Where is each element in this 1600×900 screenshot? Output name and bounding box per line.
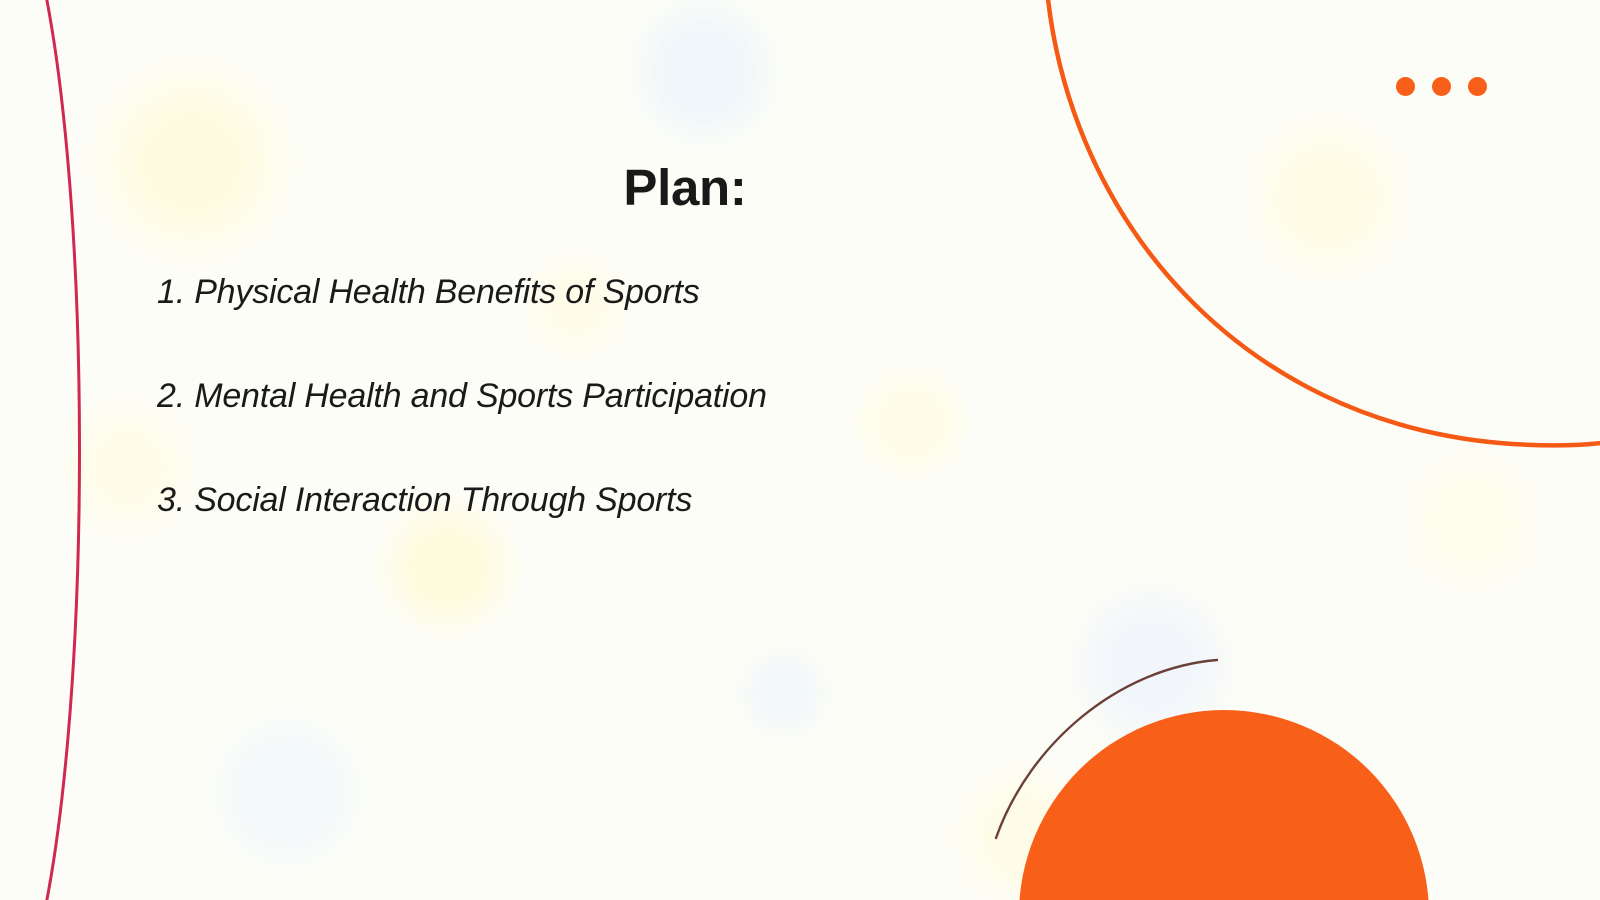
plan-list-item-2: 2. Mental Health and Sports Participatio… <box>157 376 977 417</box>
plan-list: 1. Physical Health Benefits of Sports 2.… <box>157 272 977 520</box>
plan-list-item-1: 1. Physical Health Benefits of Sports <box>157 272 977 313</box>
filled-orange-circle <box>1019 710 1429 900</box>
maroon-arc-bottom-right <box>996 660 1217 838</box>
red-arc-left <box>33 0 80 900</box>
slide-title: Plan: <box>0 162 1370 213</box>
decorative-dot-3 <box>1468 77 1487 96</box>
decorative-dot-2 <box>1432 77 1451 96</box>
orange-arc-top-right <box>1047 0 1600 445</box>
plan-list-item-3: 3. Social Interaction Through Sports <box>157 480 977 521</box>
decorative-dots <box>1396 77 1487 96</box>
presentation-slide: Plan: 1. Physical Health Benefits of Spo… <box>0 0 1600 900</box>
decorative-dot-1 <box>1396 77 1415 96</box>
